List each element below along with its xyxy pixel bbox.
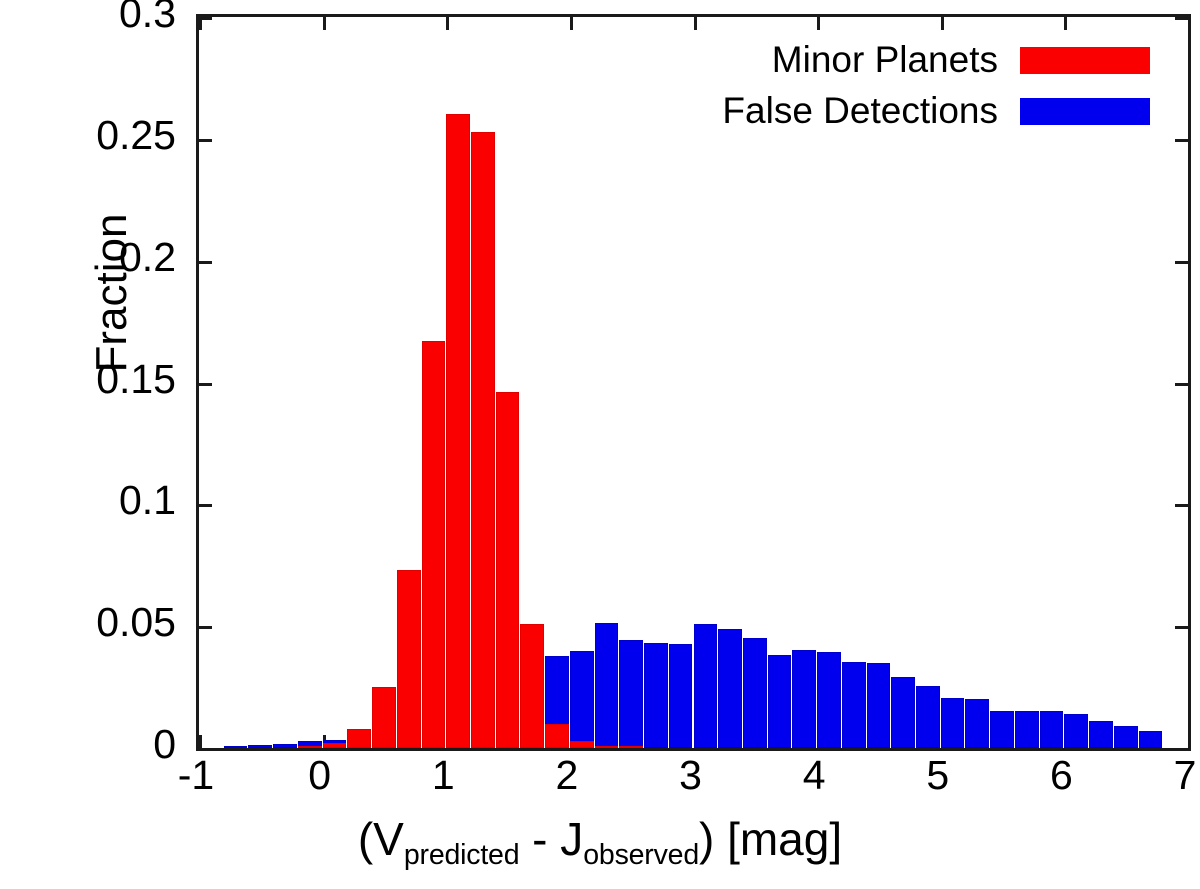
y-tick (199, 139, 212, 142)
histogram-bar (397, 570, 421, 748)
x-title-sub-predicted: predicted (404, 839, 520, 871)
histogram-bar (1139, 731, 1163, 748)
histogram-bar (842, 662, 866, 748)
x-axis-title: (Vpredicted - Jobserved) [mag] (0, 812, 1200, 872)
x-tick-top (941, 17, 944, 30)
histogram-bar (248, 745, 272, 748)
histogram-bar (768, 655, 792, 748)
x-tick (199, 735, 202, 748)
x-title-dash: - J (519, 813, 583, 865)
y-tick-right (1175, 504, 1188, 507)
histogram-bar (792, 650, 816, 748)
legend-swatch-minor-planets (1020, 47, 1150, 74)
x-title-v: (V (358, 813, 404, 865)
histogram-bar (644, 643, 668, 748)
y-tick-right (1175, 383, 1188, 386)
x-tick-label: 4 (754, 755, 874, 796)
x-tick-label: 2 (507, 755, 627, 796)
legend-swatch-false-detections (1020, 98, 1150, 125)
histogram-bar (496, 392, 520, 748)
y-tick (199, 504, 212, 507)
y-tick-label: 0.2 (0, 237, 176, 278)
legend-entry-false-detections: False Detections (722, 90, 1150, 132)
x-tick-top (199, 17, 202, 30)
histogram-bar (743, 638, 767, 748)
x-tick-top (570, 17, 573, 30)
histogram-bar (694, 624, 718, 748)
histogram-bar (224, 746, 248, 748)
y-tick (199, 626, 212, 629)
y-tick-right (1175, 626, 1188, 629)
histogram-bar (570, 741, 594, 748)
histogram-bar (545, 724, 569, 748)
legend-label-minor-planets: Minor Planets (772, 39, 998, 81)
x-tick-label: 0 (260, 755, 380, 796)
histogram-bar (471, 132, 495, 748)
histogram-bar (372, 687, 396, 748)
y-tick-label: 0.05 (0, 602, 176, 643)
y-tick (199, 383, 212, 386)
x-title-end: ) [mag] (699, 813, 842, 865)
histogram-bar (1114, 726, 1138, 748)
histogram-bar (990, 711, 1014, 748)
histogram-bar (595, 746, 619, 748)
histogram-bar (1064, 714, 1088, 748)
histogram-bar (347, 729, 371, 748)
histogram-bar (891, 677, 915, 748)
y-tick-label: 0.25 (0, 115, 176, 156)
y-tick (199, 261, 212, 264)
x-tick-top (817, 17, 820, 30)
histogram-bar (273, 744, 297, 748)
legend-label-false-detections: False Detections (722, 90, 998, 132)
x-tick-label: 6 (1001, 755, 1121, 796)
x-tick-label: 7 (1125, 755, 1200, 796)
legend-entry-minor-planets: Minor Planets (772, 39, 1150, 81)
histogram-bar (323, 743, 347, 748)
histogram-bar (1040, 711, 1064, 748)
x-tick-label: -1 (136, 755, 256, 796)
histogram-bar (867, 663, 891, 748)
histogram-bar (619, 746, 643, 748)
histogram-bar (1015, 711, 1039, 748)
x-tick-top (694, 17, 697, 30)
histogram-bar (817, 652, 841, 748)
x-tick-label: 3 (631, 755, 751, 796)
plot-frame: Minor Planets False Detections (196, 14, 1191, 751)
x-tick-top (323, 17, 326, 30)
histogram-bar (422, 341, 446, 748)
x-tick-label: 5 (878, 755, 998, 796)
y-tick-label: 0.3 (0, 0, 176, 34)
histogram-bar (718, 629, 742, 748)
histogram-bar (570, 651, 594, 748)
histogram-bar (669, 644, 693, 748)
histogram-bar (965, 699, 989, 748)
y-tick-label: 0.15 (0, 359, 176, 400)
x-tick (1188, 735, 1191, 748)
histogram-bar (941, 698, 965, 748)
histogram-bar (298, 746, 322, 748)
chart-page: Fraction Minor Planets False Detections … (0, 0, 1200, 889)
y-tick-right (1175, 261, 1188, 264)
histogram-bar (619, 640, 643, 748)
histogram-bar (916, 686, 940, 748)
y-tick-right (1175, 748, 1188, 751)
histogram-bar (595, 623, 619, 748)
x-tick-top (446, 17, 449, 30)
y-tick (199, 748, 212, 751)
y-tick-right (1175, 139, 1188, 142)
x-tick-top (1188, 17, 1191, 30)
legend: Minor Planets False Detections (722, 39, 1150, 132)
histogram-bar (446, 114, 470, 748)
histogram-bar (1089, 721, 1113, 748)
x-tick-top (1064, 17, 1067, 30)
x-tick-label: 1 (383, 755, 503, 796)
y-tick-label: 0.1 (0, 480, 176, 521)
x-title-sub-observed: observed (583, 839, 699, 871)
histogram-bar (520, 624, 544, 748)
y-tick-right (1175, 17, 1188, 20)
